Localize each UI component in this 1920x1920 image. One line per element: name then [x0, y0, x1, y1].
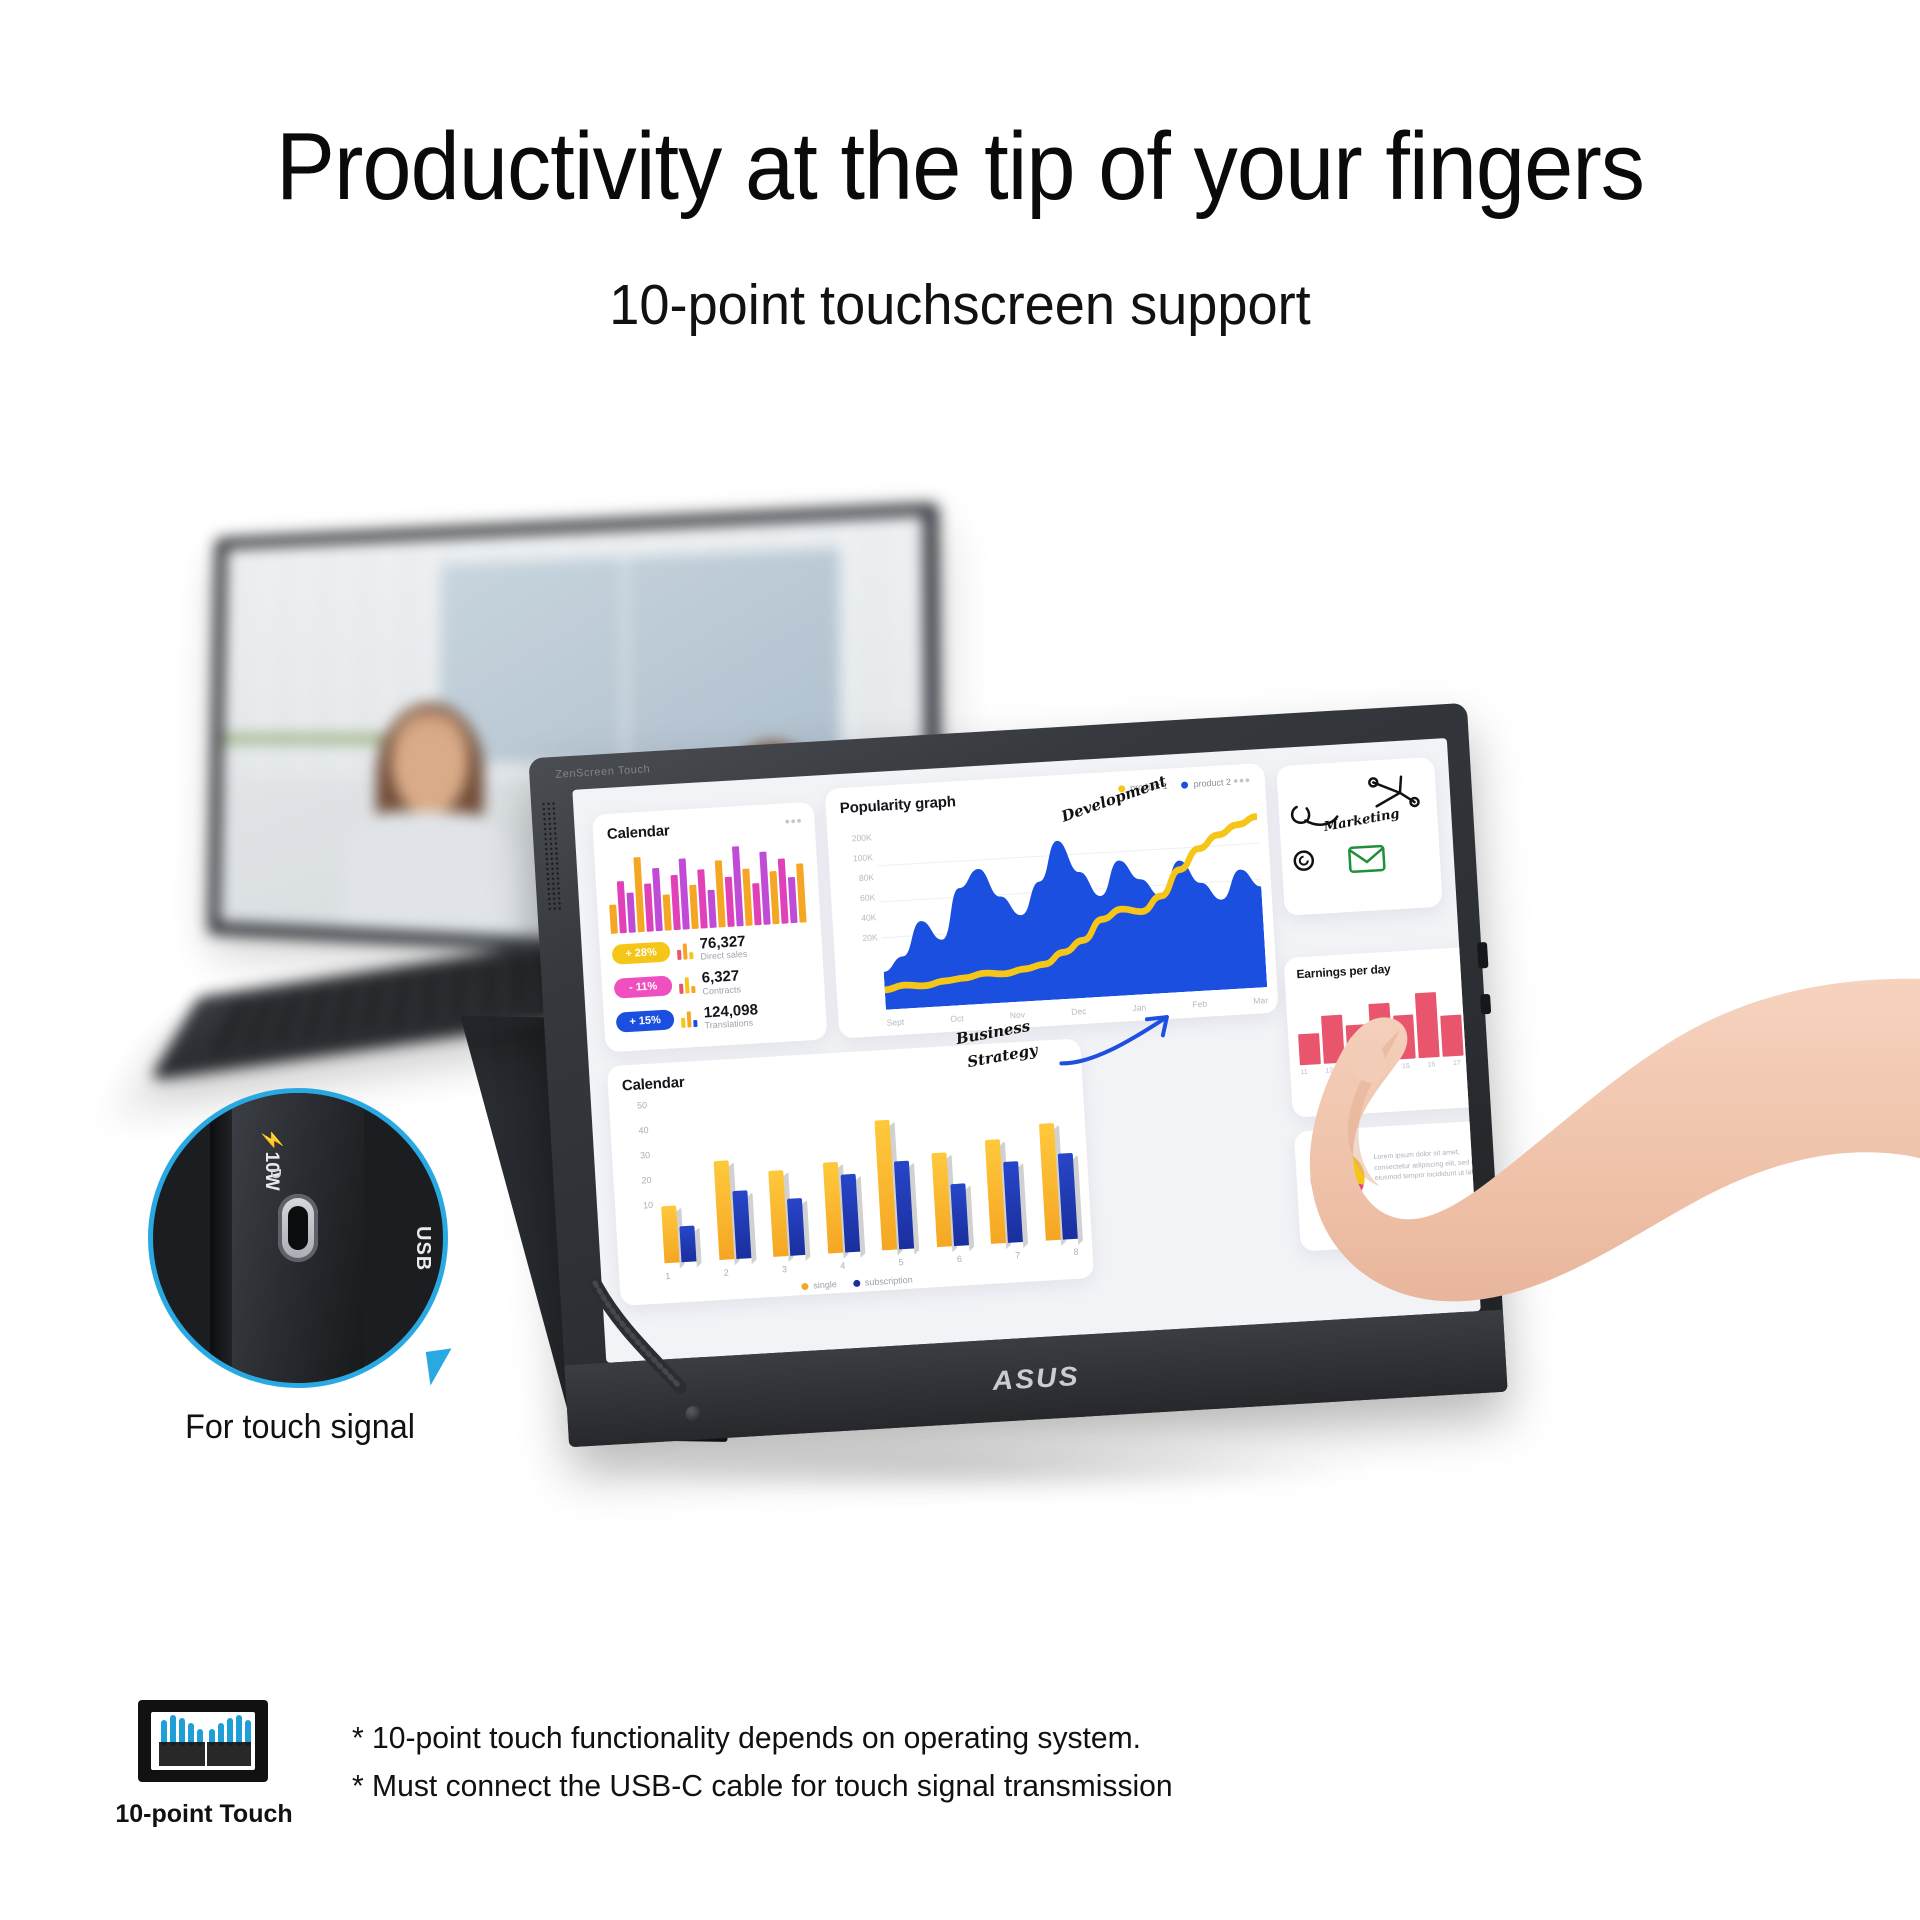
bar-group — [823, 1161, 860, 1254]
usb-c-port-callout: ⚡10W D USB — [148, 1088, 448, 1388]
bar-group — [713, 1160, 751, 1261]
video-participant-1 — [330, 710, 531, 937]
bar-group — [985, 1138, 1023, 1244]
bar-group — [1039, 1122, 1078, 1241]
calendar-stats-card[interactable]: Calendar ••• + 28%76,327Direct sales- 11… — [592, 802, 828, 1053]
y-tick: 30 — [624, 1150, 651, 1176]
y-tick: 100K — [839, 852, 874, 874]
stat-micro-chart-icon — [676, 941, 693, 960]
notes-card[interactable]: Marketing — [1276, 757, 1443, 916]
stat-badge: + 28% — [612, 941, 671, 964]
x-tick: 8 — [1073, 1247, 1079, 1257]
y-tick: 200K — [837, 832, 872, 854]
footnote-2: * Must connect the USB-C cable for touch… — [352, 1762, 1710, 1810]
stats-list: + 28%76,327Direct sales- 11%6,327Contrac… — [611, 930, 819, 1045]
bar-group — [931, 1152, 968, 1247]
speaker-grille-icon — [541, 801, 561, 912]
asus-logo: ASUS — [979, 1360, 1094, 1397]
y-tick: 20 — [625, 1175, 652, 1201]
usb-label: USB — [411, 1226, 434, 1271]
callout-pointer — [426, 1348, 456, 1385]
x-tick: 3 — [782, 1264, 788, 1274]
power-label: ⚡10W — [260, 1128, 284, 1191]
stat-badge: + 15% — [616, 1010, 675, 1033]
x-tick: Oct — [950, 1013, 964, 1024]
ten-point-touch-caption: 10-point Touch — [88, 1800, 320, 1829]
calendar2-bars — [655, 1077, 1078, 1263]
stat-text: 124,098Translations — [703, 1002, 759, 1030]
calendar2-y-axis: 5040302010 — [621, 1100, 654, 1226]
y-tick: 80K — [840, 872, 875, 894]
usb-c-cable — [585, 1275, 705, 1405]
bar-group — [768, 1169, 805, 1257]
page-title: Productivity at the tip of your fingers — [77, 112, 1843, 222]
stat-text: 6,327Contracts — [701, 969, 741, 997]
stat-row: + 28%76,327Direct sales — [611, 930, 814, 967]
stat-row: - 11%6,327Contracts — [613, 964, 816, 1001]
y-tick: 60K — [841, 892, 876, 914]
x-tick: 5 — [898, 1257, 904, 1267]
calendar-bar-chart-card[interactable]: Calendar 5040302010 12345678 singlesubsc… — [607, 1038, 1094, 1306]
legend-item: single — [801, 1279, 837, 1291]
monitor-bezel-brand: ZenScreen Touch — [555, 763, 651, 781]
calendar-mini-bar-chart — [606, 836, 811, 934]
x-tick: 7 — [1015, 1250, 1021, 1260]
bar-group — [661, 1204, 696, 1263]
ten-point-touch-badge — [138, 1700, 268, 1782]
x-tick: 6 — [957, 1254, 963, 1264]
calendar2-legend: singlesubscription — [801, 1275, 913, 1292]
displayport-label: D — [267, 1168, 284, 1179]
popularity-y-axis: 200K100K80K60K40K20K — [837, 832, 878, 954]
x-tick: 4 — [840, 1261, 846, 1271]
monitor-ground-shadow — [560, 1440, 1380, 1496]
monitor-side-panel: ⚡10W D USB — [232, 1088, 364, 1388]
stat-row: + 15%124,098Translations — [615, 998, 818, 1035]
y-tick: 10 — [627, 1200, 654, 1226]
stat-micro-chart-icon — [681, 1009, 698, 1028]
stat-micro-chart-icon — [679, 975, 696, 994]
callout-caption: For touch signal — [129, 1408, 471, 1447]
handwritten-notes-icon — [1276, 757, 1443, 916]
stat-text: 76,327Direct sales — [699, 934, 747, 962]
x-tick: Sept — [886, 1017, 904, 1028]
stat-badge: - 11% — [614, 975, 673, 998]
bar-group — [875, 1119, 915, 1251]
ten-fingers-icon — [151, 1712, 255, 1770]
y-tick: 40 — [622, 1125, 649, 1151]
legend-item: subscription — [853, 1275, 914, 1289]
y-tick: 20K — [843, 932, 878, 954]
page-subtitle: 10-point touchscreen support — [48, 272, 1872, 338]
usb-c-port-icon — [278, 1194, 318, 1262]
y-tick: 40K — [842, 912, 877, 934]
pointing-hand — [1150, 930, 1920, 1390]
power-button[interactable] — [685, 1405, 702, 1422]
footnotes: * 10-point touch functionality depends o… — [352, 1714, 1752, 1810]
popularity-card-menu-icon[interactable]: ••• — [1233, 772, 1252, 789]
x-tick: 2 — [723, 1268, 729, 1278]
callout-circle: ⚡10W D USB — [148, 1088, 448, 1388]
footnote-1: * 10-point touch functionality depends o… — [352, 1714, 1710, 1762]
y-tick: 50 — [621, 1100, 648, 1126]
calendar-card-menu-icon[interactable]: ••• — [784, 812, 803, 829]
